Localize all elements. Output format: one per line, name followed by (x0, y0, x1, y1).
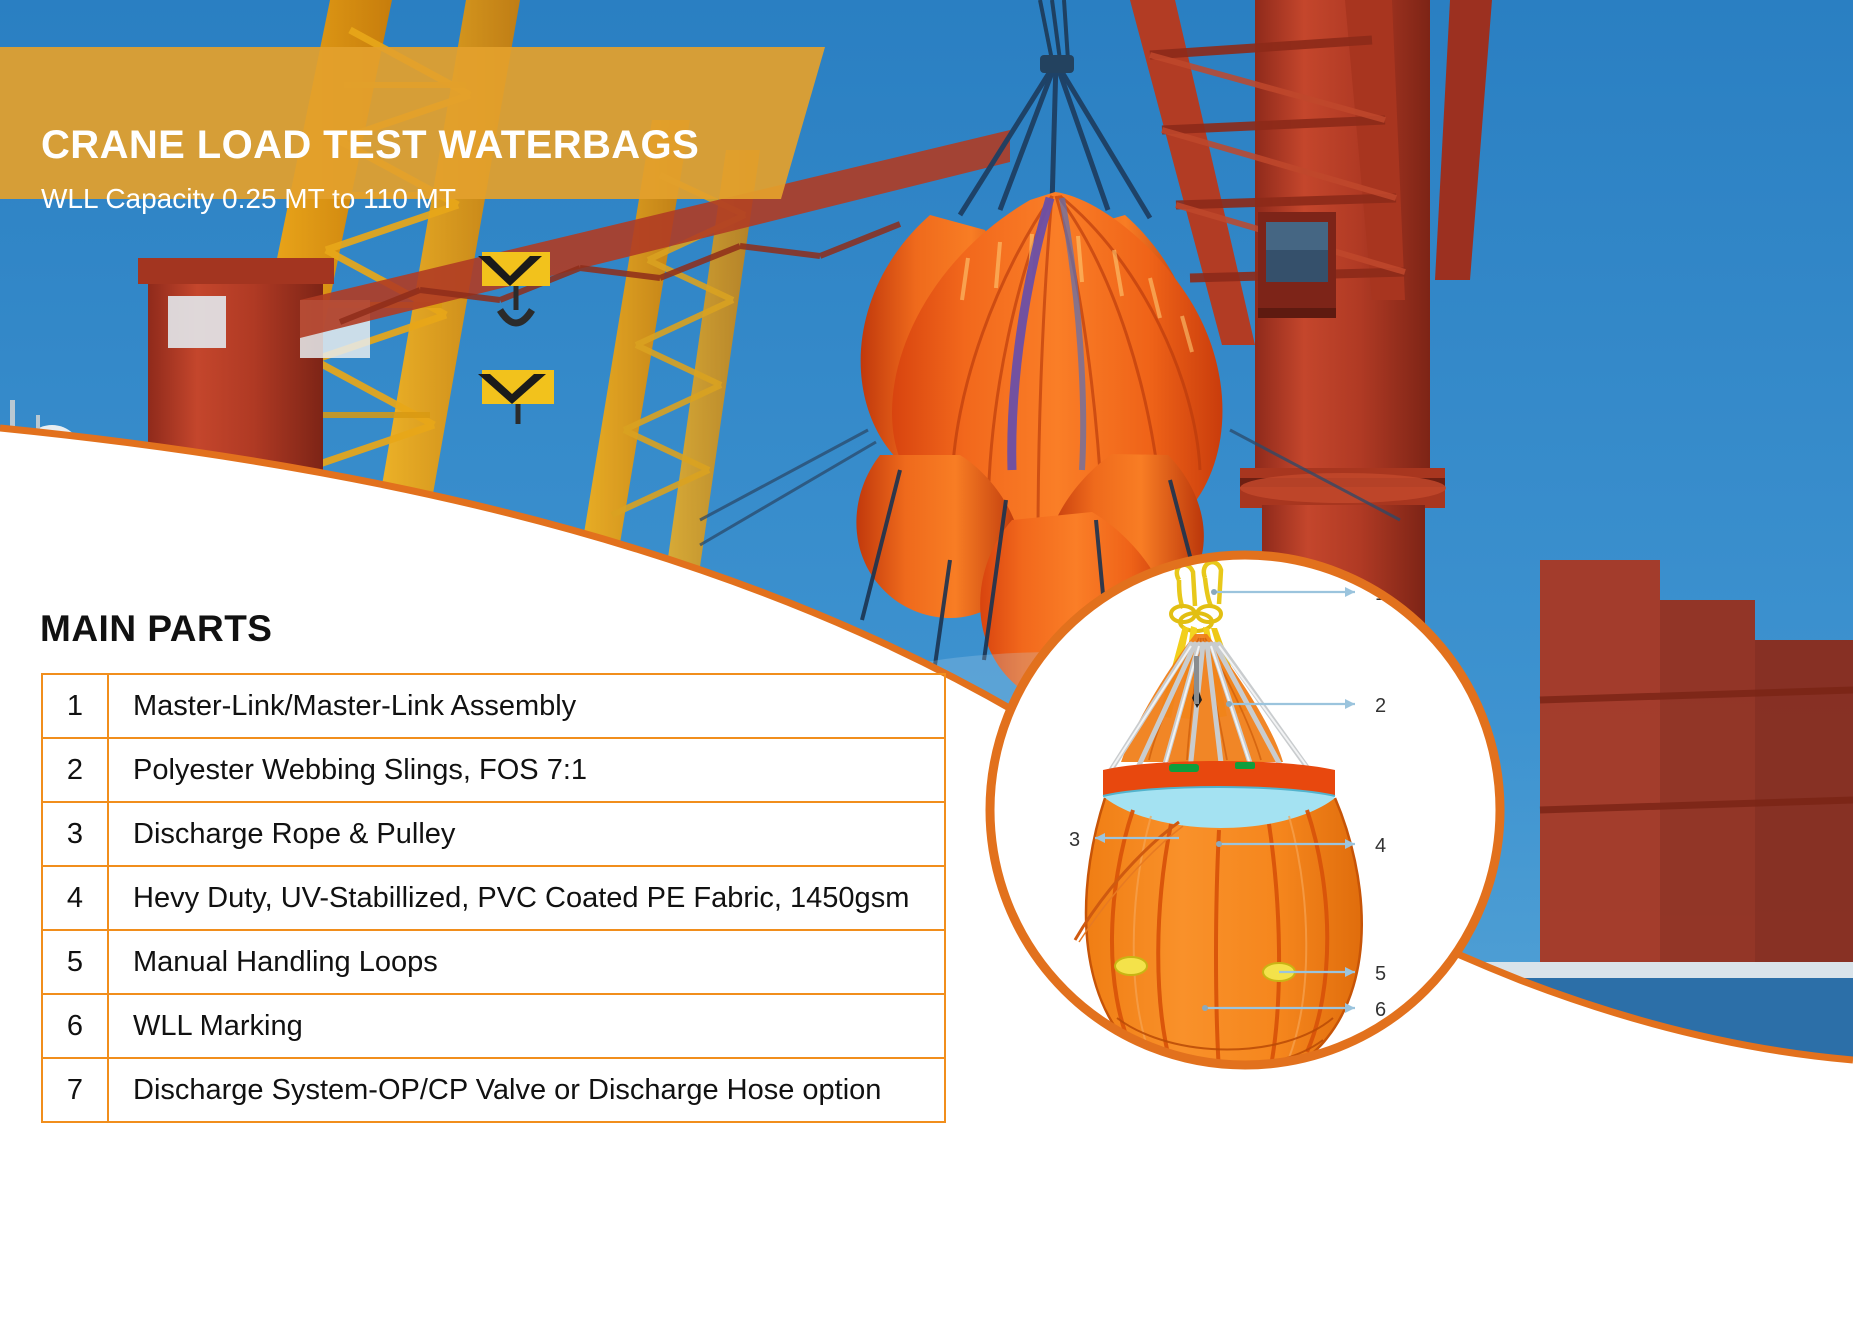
row-number: 6 (42, 994, 108, 1058)
row-number: 4 (42, 866, 108, 930)
callout-label-3: 3 (1069, 829, 1080, 851)
main-parts-table: 1 Master-Link/Master-Link Assembly 2 Pol… (41, 673, 946, 1123)
callout-label-5: 5 (1375, 963, 1386, 985)
row-label: Polyester Webbing Slings, FOS 7:1 (108, 738, 945, 802)
main-parts-table-body: 1 Master-Link/Master-Link Assembly 2 Pol… (42, 674, 945, 1122)
row-number: 7 (42, 1058, 108, 1122)
callout-label-6: 6 (1375, 999, 1386, 1021)
row-number: 5 (42, 930, 108, 994)
row-label: Hevy Duty, UV-Stabillized, PVC Coated PE… (108, 866, 945, 930)
infographic-canvas: CRANE LOAD TEST WATERBAGS WLL Capacity 0… (0, 0, 1853, 1317)
table-row: 5 Manual Handling Loops (42, 930, 945, 994)
section-heading-main-parts: MAIN PARTS (40, 610, 272, 647)
table-row: 7 Discharge System-OP/CP Valve or Discha… (42, 1058, 945, 1122)
row-label: Discharge Rope & Pulley (108, 802, 945, 866)
row-number: 1 (42, 674, 108, 738)
waterbag-diagram-inset: 1 2 3 4 5 6 7 (983, 548, 1507, 1072)
row-label: Master-Link/Master-Link Assembly (108, 674, 945, 738)
callout-label-4: 4 (1375, 835, 1386, 857)
row-label: Manual Handling Loops (108, 930, 945, 994)
table-row: 6 WLL Marking (42, 994, 945, 1058)
row-label: WLL Marking (108, 994, 945, 1058)
table-row: 4 Hevy Duty, UV-Stabillized, PVC Coated … (42, 866, 945, 930)
row-number: 3 (42, 802, 108, 866)
table-row: 3 Discharge Rope & Pulley (42, 802, 945, 866)
callout-label-7: 7 (1375, 1069, 1386, 1072)
table-row: 2 Polyester Webbing Slings, FOS 7:1 (42, 738, 945, 802)
row-number: 2 (42, 738, 108, 802)
row-label: Discharge System-OP/CP Valve or Discharg… (108, 1058, 945, 1122)
callout-label-2: 2 (1375, 695, 1386, 717)
table-row: 1 Master-Link/Master-Link Assembly (42, 674, 945, 738)
